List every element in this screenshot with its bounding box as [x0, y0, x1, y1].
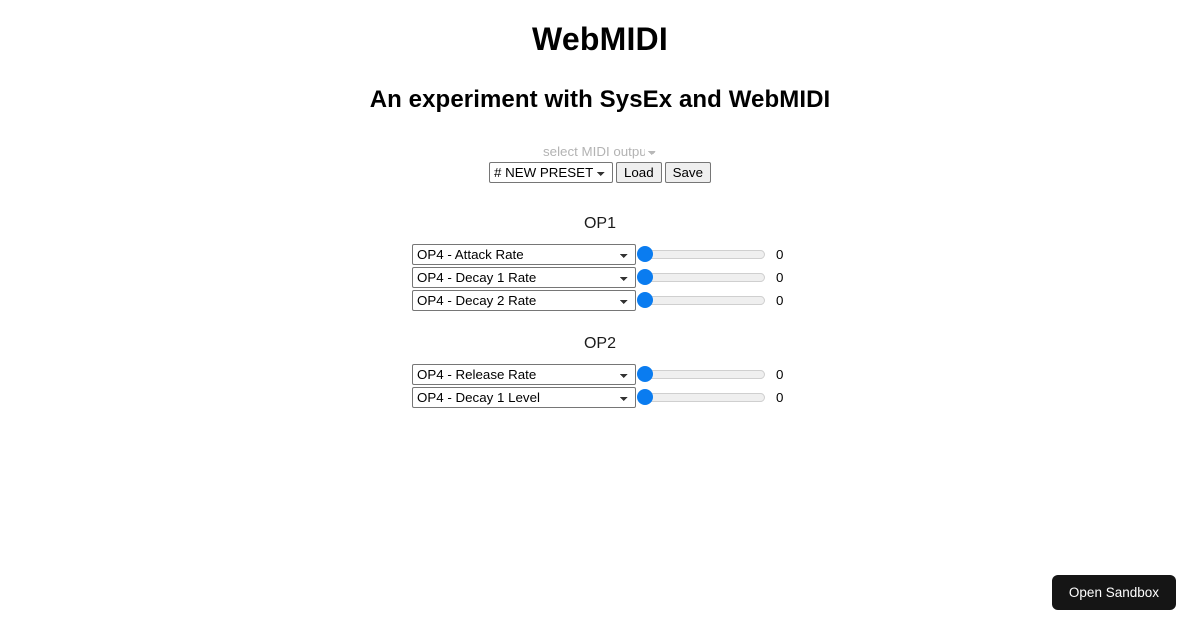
open-sandbox-button[interactable]: Open Sandbox — [1052, 575, 1176, 611]
param-slider[interactable] — [637, 364, 765, 385]
param-list-op2: OP4 - Release Rate 0 OP4 - Decay 1 Level… — [0, 364, 1200, 408]
param-select[interactable]: OP4 - Release Rate — [412, 364, 636, 385]
slider-track — [645, 370, 765, 379]
midi-output-row: select MIDI output — [0, 141, 1200, 162]
param-select[interactable]: OP4 - Decay 2 Rate — [412, 290, 636, 311]
page-subtitle: An experiment with SysEx and WebMIDI — [0, 55, 1200, 112]
slider-thumb[interactable] — [637, 366, 653, 382]
slider-thumb[interactable] — [637, 269, 653, 285]
operator-heading-op2: OP2 — [0, 311, 1200, 352]
param-row: OP4 - Attack Rate 0 — [412, 244, 788, 265]
param-slider[interactable] — [637, 267, 765, 288]
page-root: WebMIDI An experiment with SysEx and Web… — [0, 0, 1200, 408]
param-row: OP4 - Decay 1 Level 0 — [412, 387, 788, 408]
slider-track — [645, 393, 765, 402]
slider-track — [645, 296, 765, 305]
param-value: 0 — [776, 267, 788, 288]
slider-thumb[interactable] — [637, 389, 653, 405]
param-value: 0 — [776, 244, 788, 265]
param-row: OP4 - Release Rate 0 — [412, 364, 788, 385]
param-value: 0 — [776, 364, 788, 385]
preset-select[interactable]: # NEW PRESET # — [489, 162, 613, 183]
param-value: 0 — [776, 290, 788, 311]
param-list-op1: OP4 - Attack Rate 0 OP4 - Decay 1 Rate 0… — [0, 244, 1200, 311]
param-slider[interactable] — [637, 244, 765, 265]
save-button[interactable]: Save — [665, 162, 711, 183]
param-row: OP4 - Decay 2 Rate 0 — [412, 290, 788, 311]
param-value: 0 — [776, 387, 788, 408]
operator-heading-op1: OP1 — [0, 183, 1200, 232]
param-select[interactable]: OP4 - Decay 1 Rate — [412, 267, 636, 288]
page-title: WebMIDI — [0, 0, 1200, 55]
param-slider[interactable] — [637, 387, 765, 408]
param-select[interactable]: OP4 - Decay 1 Level — [412, 387, 636, 408]
midi-output-select[interactable]: select MIDI output — [536, 141, 664, 162]
slider-track — [645, 250, 765, 259]
preset-toolbar: # NEW PRESET # Load Save — [0, 162, 1200, 183]
param-slider[interactable] — [637, 290, 765, 311]
param-select[interactable]: OP4 - Attack Rate — [412, 244, 636, 265]
slider-thumb[interactable] — [637, 292, 653, 308]
load-button[interactable]: Load — [616, 162, 662, 183]
slider-track — [645, 273, 765, 282]
param-row: OP4 - Decay 1 Rate 0 — [412, 267, 788, 288]
slider-thumb[interactable] — [637, 246, 653, 262]
